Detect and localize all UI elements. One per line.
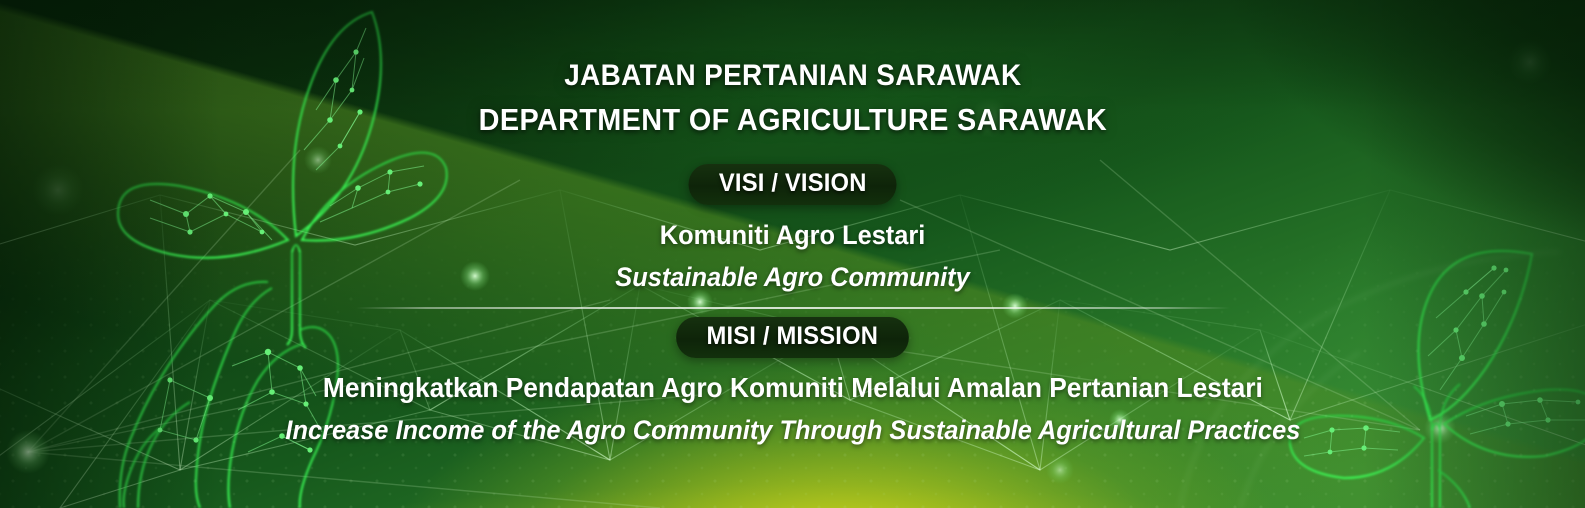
organisation-title: JABATAN PERTANIAN SARAWAK DEPARTMENT OF …	[455, 54, 1131, 142]
vision-mission-banner: JABATAN PERTANIAN SARAWAK DEPARTMENT OF …	[0, 0, 1585, 508]
vision-badge: VISI / VISION	[688, 164, 896, 205]
vision-text-malay: Komuniti Agro Lestari	[615, 215, 969, 255]
mission-section: MISI / MISSION Meningkatkan Pendapatan A…	[253, 317, 1333, 450]
mission-text-malay: Meningkatkan Pendapatan Agro Komuniti Me…	[285, 368, 1300, 408]
vision-text-english: Sustainable Agro Community	[615, 257, 969, 297]
title-line-malay: JABATAN PERTANIAN SARAWAK	[478, 54, 1106, 98]
mission-badge: MISI / MISSION	[676, 317, 908, 358]
title-line-english: DEPARTMENT OF AGRICULTURE SARAWAK	[478, 98, 1106, 142]
mission-text-english: Increase Income of the Agro Community Th…	[285, 410, 1300, 450]
vision-section: VISI / VISION Komuniti Agro Lestari Sust…	[604, 164, 981, 297]
